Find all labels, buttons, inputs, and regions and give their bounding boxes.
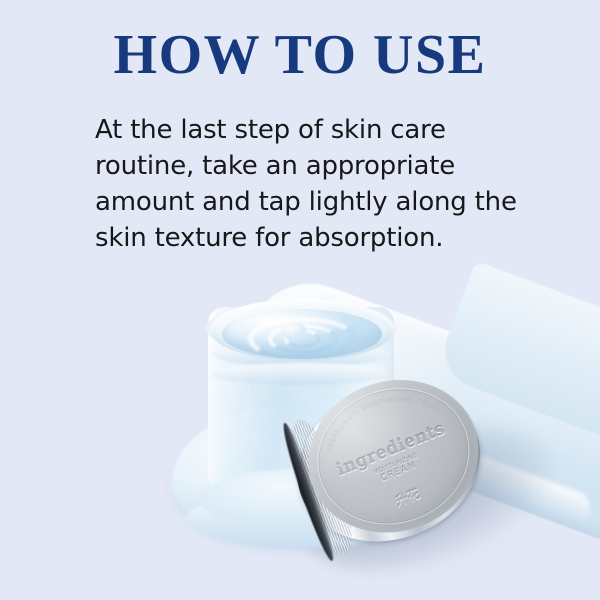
cream-in-jar — [222, 309, 382, 359]
product-photo: INGREDIENTS MOISTURIZING CREAM ALL SKIN … — [0, 255, 600, 600]
jar-thread — [210, 363, 392, 385]
poster-canvas: HOW TO USE At the last step of skin care… — [0, 0, 600, 600]
instruction-text: At the last step of skin care routine, t… — [95, 112, 520, 256]
page-title: HOW TO USE — [0, 26, 600, 85]
